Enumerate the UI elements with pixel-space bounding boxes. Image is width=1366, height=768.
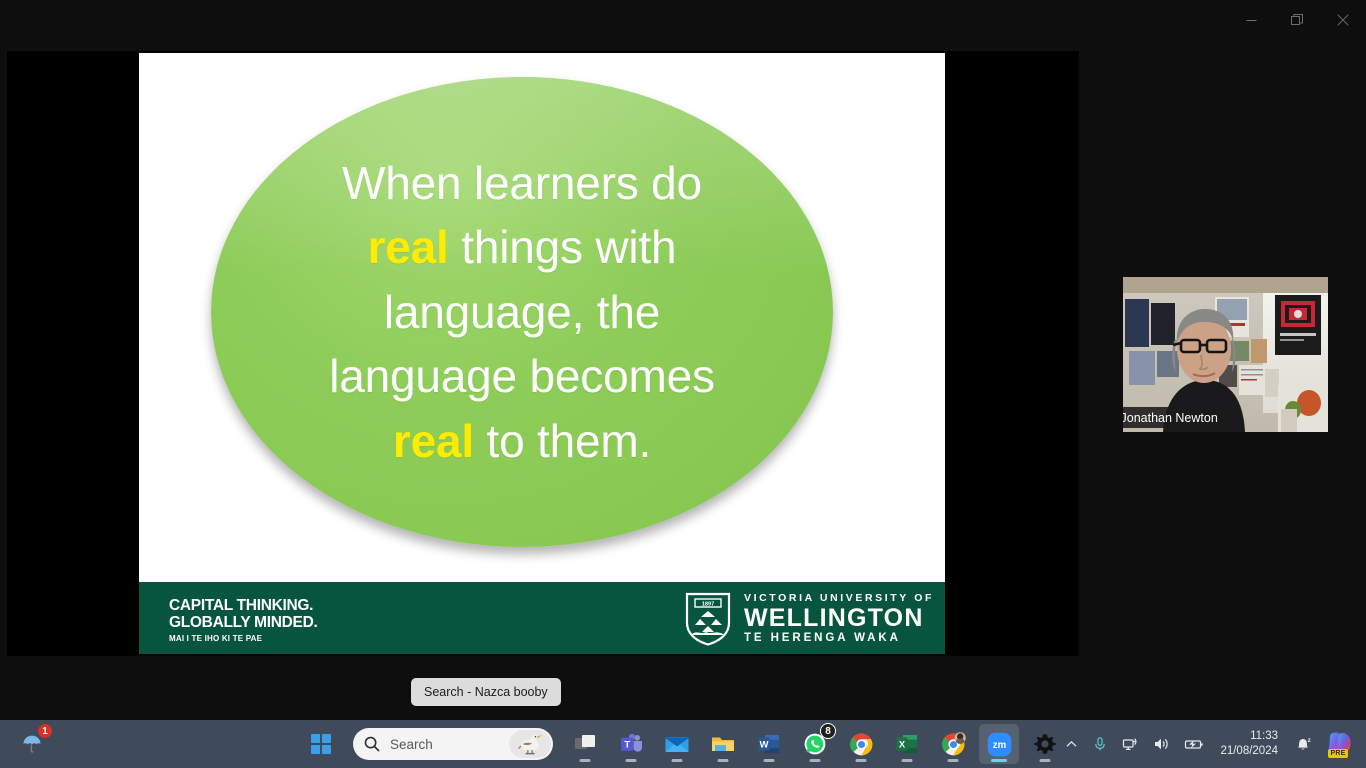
open-indicator xyxy=(1040,759,1051,762)
window-controls xyxy=(1228,0,1366,40)
network-icon xyxy=(1122,736,1139,752)
slide-footer-band: CAPITAL THINKING. GLOBALLY MINDED. MAI I… xyxy=(139,582,945,654)
zoom-icon: zm xyxy=(986,731,1013,758)
participant-name-chip: Jonathan Newton xyxy=(1123,407,1226,428)
teams-icon: T xyxy=(619,732,643,756)
participant-video-tile[interactable]: Jonathan Newton xyxy=(1123,277,1328,432)
open-indicator xyxy=(718,759,729,762)
chevron-up-icon xyxy=(1065,738,1078,751)
windows-logo-icon xyxy=(311,734,332,755)
taskbar-app-file-explorer[interactable] xyxy=(703,724,743,764)
mail-icon xyxy=(664,732,690,756)
taskbar-app-whatsapp[interactable]: 8 xyxy=(795,724,835,764)
chrome-icon xyxy=(941,732,966,757)
university-logo: 1897 VICTORIA UNIVERSITY OF WELLINGTON T… xyxy=(685,592,934,647)
desktop-screen: When learners do real things with langua… xyxy=(0,0,1366,768)
copilot-icon: PRE xyxy=(1326,731,1354,757)
quote-line-2: things with xyxy=(449,221,677,273)
taskbar-app-excel[interactable]: X xyxy=(887,724,927,764)
open-indicator xyxy=(902,759,913,762)
presentation-slide: When learners do real things with langua… xyxy=(139,53,945,654)
microphone-icon xyxy=(1092,736,1108,752)
tray-network-button[interactable] xyxy=(1116,724,1145,764)
bell-dnd-icon: z xyxy=(1294,736,1312,752)
nazca-booby-bird-icon[interactable] xyxy=(509,730,551,758)
logo-line-2: WELLINGTON xyxy=(744,605,934,631)
university-tagline: CAPITAL THINKING. GLOBALLY MINDED. MAI I… xyxy=(169,598,318,643)
crest-year-text: 1897 xyxy=(702,602,714,608)
clock-time: 11:33 xyxy=(1250,729,1278,744)
clock-button[interactable]: 11:33 21/08/2024 xyxy=(1212,724,1286,764)
excel-icon: X xyxy=(895,732,919,756)
taskbar: 1 Search xyxy=(0,720,1366,768)
participant-name-label: Jonathan Newton xyxy=(1123,411,1218,425)
taskbar-app-task-view[interactable] xyxy=(565,724,605,764)
active-indicator xyxy=(991,759,1007,762)
taskbar-app-chrome-1[interactable] xyxy=(841,724,881,764)
slide-body: When learners do real things with langua… xyxy=(139,53,945,582)
open-indicator xyxy=(672,759,683,762)
tagline-line-1: CAPITAL THINKING. xyxy=(169,598,318,615)
taskbar-app-mail[interactable] xyxy=(657,724,697,764)
tagline-line-3: MAI I TE IHO KI TE PAE xyxy=(169,634,318,643)
tagline-line-2: GLOBALLY MINDED. xyxy=(169,615,318,632)
taskbar-app-word[interactable]: W xyxy=(749,724,789,764)
clock-date: 21/08/2024 xyxy=(1220,744,1278,759)
search-input[interactable]: Search xyxy=(353,728,553,760)
tray-notifications-button[interactable]: z xyxy=(1288,724,1318,764)
search-placeholder: Search xyxy=(390,737,433,752)
taskbar-app-teams[interactable]: T xyxy=(611,724,651,764)
tray-battery-button[interactable] xyxy=(1178,724,1210,764)
open-indicator xyxy=(580,759,591,762)
quote-line-3: language, the xyxy=(384,286,660,338)
shared-screen-stage: When learners do real things with langua… xyxy=(7,51,1079,656)
university-name-block: VICTORIA UNIVERSITY OF WELLINGTON TE HER… xyxy=(744,592,934,647)
slide-quote-text: When learners do real things with langua… xyxy=(236,151,808,473)
svg-text:W: W xyxy=(760,738,769,749)
tray-copilot-button[interactable]: PRE xyxy=(1320,724,1360,764)
svg-text:T: T xyxy=(624,740,630,751)
minimize-button[interactable] xyxy=(1228,0,1274,40)
gear-icon xyxy=(1033,732,1057,756)
green-ellipse-shape: When learners do real things with langua… xyxy=(211,77,833,547)
tray-microphone-button[interactable] xyxy=(1086,724,1114,764)
taskbar-app-zoom[interactable]: zm xyxy=(979,724,1019,764)
tray-volume-button[interactable] xyxy=(1147,724,1176,764)
folder-icon xyxy=(710,732,736,756)
quote-highlight-2: real xyxy=(393,415,474,467)
search-icon xyxy=(364,736,380,752)
search-tooltip: Search - Nazca booby xyxy=(411,678,561,706)
whatsapp-badge: 8 xyxy=(820,723,836,739)
open-indicator xyxy=(764,759,775,762)
svg-text:zm: zm xyxy=(992,740,1005,751)
tray-overflow-button[interactable] xyxy=(1059,724,1084,764)
logo-line-3: TE HERENGA WAKA xyxy=(744,631,934,647)
speaker-icon xyxy=(1153,736,1170,752)
start-button[interactable] xyxy=(301,724,341,764)
open-indicator xyxy=(856,759,867,762)
copilot-pre-badge: PRE xyxy=(1328,749,1348,758)
quote-line-4: language becomes xyxy=(329,350,715,402)
open-indicator xyxy=(948,759,959,762)
svg-text:z: z xyxy=(1308,737,1311,744)
close-button[interactable] xyxy=(1320,0,1366,40)
word-icon: W xyxy=(757,732,781,756)
quote-line-1: When learners do xyxy=(342,157,702,209)
task-view-icon xyxy=(573,732,597,756)
taskbar-app-chrome-2[interactable] xyxy=(933,724,973,764)
open-indicator xyxy=(810,759,821,762)
quote-highlight-1: real xyxy=(368,221,449,273)
open-indicator xyxy=(626,759,637,762)
quote-line-5: to them. xyxy=(474,415,651,467)
system-tray: 11:33 21/08/2024 z xyxy=(1059,720,1360,768)
shield-crest-icon: 1897 xyxy=(685,592,731,646)
svg-text:X: X xyxy=(899,738,906,749)
battery-icon xyxy=(1184,736,1204,752)
chrome-icon xyxy=(849,732,874,757)
restore-button[interactable] xyxy=(1274,0,1320,40)
